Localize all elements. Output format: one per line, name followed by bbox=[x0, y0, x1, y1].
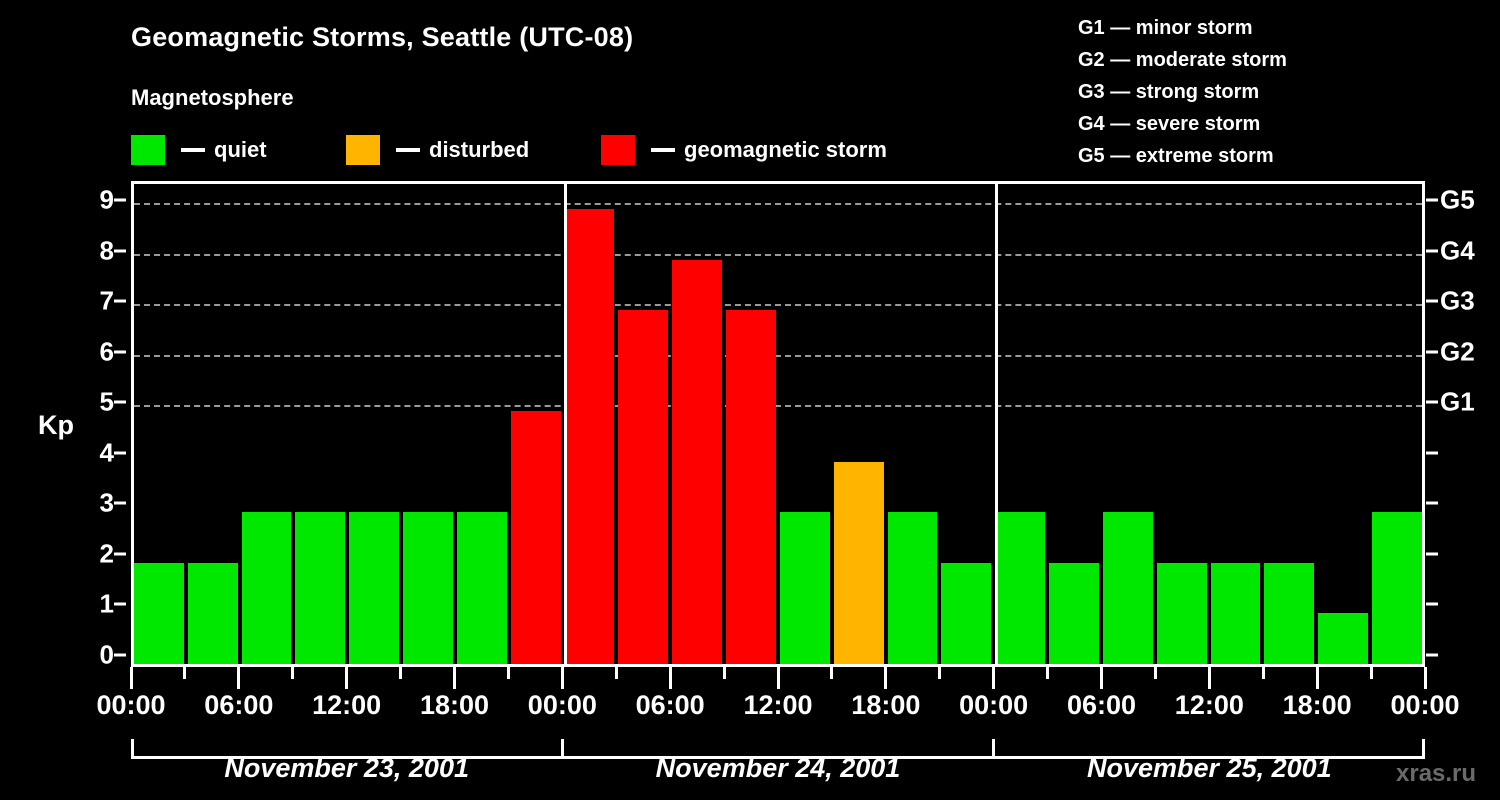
g-axis-tick-2 bbox=[1426, 552, 1438, 555]
bar[interactable] bbox=[1211, 563, 1261, 664]
day-labels: November 23, 2001November 24, 2001Novemb… bbox=[131, 753, 1425, 793]
bar[interactable] bbox=[1264, 563, 1314, 664]
g-axis-tick-1 bbox=[1426, 603, 1438, 606]
legend-item-quiet: quiet bbox=[131, 135, 267, 165]
g-tick-label-G4: G4 bbox=[1440, 235, 1475, 266]
legend-item-storm: geomagnetic storm bbox=[601, 135, 887, 165]
y-tick-label-0: 0 bbox=[100, 640, 114, 671]
bar[interactable] bbox=[295, 512, 345, 664]
x-tick-16 bbox=[992, 667, 995, 689]
y-tick-4 bbox=[114, 451, 126, 454]
gscale-legend: G1 — minor stormG2 — moderate stormG3 — … bbox=[1078, 12, 1287, 172]
legend-label-quiet: quiet bbox=[214, 137, 267, 163]
x-tick-label-6: 12:00 bbox=[743, 690, 812, 721]
bar[interactable] bbox=[1049, 563, 1099, 664]
x-tick-0 bbox=[130, 667, 133, 689]
y-tick-3 bbox=[114, 502, 126, 505]
g-axis-tick-3 bbox=[1426, 502, 1438, 505]
g-tick-label-G2: G2 bbox=[1440, 336, 1475, 367]
page-title: Geomagnetic Storms, Seattle (UTC-08) bbox=[131, 22, 633, 53]
y-tick-label-1: 1 bbox=[100, 589, 114, 620]
x-tick-22 bbox=[1316, 667, 1319, 689]
bar[interactable] bbox=[995, 512, 1045, 664]
bar[interactable] bbox=[1103, 512, 1153, 664]
y-tick-9 bbox=[114, 199, 126, 202]
g-axis: G1G2G3G4G5 bbox=[1440, 181, 1500, 667]
x-tick-label-3: 18:00 bbox=[420, 690, 489, 721]
x-tick-23 bbox=[1370, 667, 1373, 679]
day-label-3: November 25, 2001 bbox=[1087, 753, 1332, 784]
gscale-line-5: G5 — extreme storm bbox=[1078, 140, 1287, 172]
gscale-line-2: G2 — moderate storm bbox=[1078, 44, 1287, 76]
x-tick-2 bbox=[237, 667, 240, 689]
bar[interactable] bbox=[565, 209, 615, 664]
x-tick-24 bbox=[1424, 667, 1427, 689]
y-tick-6 bbox=[114, 350, 126, 353]
bar[interactable] bbox=[1318, 613, 1368, 664]
bar-series bbox=[134, 184, 1422, 664]
bar[interactable] bbox=[134, 563, 184, 664]
y-axis: 0123456789 bbox=[62, 181, 114, 667]
x-tick-label-8: 00:00 bbox=[959, 690, 1028, 721]
g-tick-label-G3: G3 bbox=[1440, 286, 1475, 317]
y-tick-label-7: 7 bbox=[100, 286, 114, 317]
bar[interactable] bbox=[672, 260, 722, 664]
x-tick-15 bbox=[938, 667, 941, 679]
bar[interactable] bbox=[349, 512, 399, 664]
x-tick-11 bbox=[723, 667, 726, 679]
x-tick-19 bbox=[1154, 667, 1157, 679]
x-tick-7 bbox=[507, 667, 510, 679]
g-tick-label-G1: G1 bbox=[1440, 387, 1475, 418]
watermark: xras.ru bbox=[1396, 760, 1476, 788]
g-axis-tick-8 bbox=[1426, 249, 1438, 252]
x-tick-14 bbox=[884, 667, 887, 689]
day-separator-1 bbox=[564, 184, 567, 664]
x-tick-3 bbox=[291, 667, 294, 679]
y-tick-label-3: 3 bbox=[100, 488, 114, 519]
y-tick-7 bbox=[114, 300, 126, 303]
x-tick-4 bbox=[345, 667, 348, 689]
g-axis-tick-7 bbox=[1426, 300, 1438, 303]
gscale-line-3: G3 — strong storm bbox=[1078, 76, 1287, 108]
y-tick-0 bbox=[114, 654, 126, 657]
x-tick-13 bbox=[830, 667, 833, 679]
g-axis-tick-4 bbox=[1426, 451, 1438, 454]
bar[interactable] bbox=[941, 563, 991, 664]
bar[interactable] bbox=[834, 462, 884, 664]
y-tick-5 bbox=[114, 401, 126, 404]
legend-dash-icon bbox=[651, 148, 675, 152]
y-tick-8 bbox=[114, 249, 126, 252]
legend-dash-icon bbox=[396, 148, 420, 152]
legend-swatch-storm bbox=[601, 135, 635, 165]
x-tick-label-4: 00:00 bbox=[528, 690, 597, 721]
y-tick-label-8: 8 bbox=[100, 235, 114, 266]
y-tick-label-5: 5 bbox=[100, 387, 114, 418]
bar[interactable] bbox=[1157, 563, 1207, 664]
gscale-line-4: G4 — severe storm bbox=[1078, 108, 1287, 140]
legend-swatch-disturbed bbox=[346, 135, 380, 165]
bar[interactable] bbox=[188, 563, 238, 664]
x-tick-label-10: 12:00 bbox=[1175, 690, 1244, 721]
legend-item-disturbed: disturbed bbox=[346, 135, 529, 165]
x-tick-21 bbox=[1262, 667, 1265, 679]
bar[interactable] bbox=[1372, 512, 1422, 664]
y-tick-label-6: 6 bbox=[100, 336, 114, 367]
x-tick-label-11: 18:00 bbox=[1283, 690, 1352, 721]
x-tick-20 bbox=[1208, 667, 1211, 689]
x-tick-1 bbox=[183, 667, 186, 679]
legend-label-disturbed: disturbed bbox=[429, 137, 529, 163]
day-label-1: November 23, 2001 bbox=[224, 753, 469, 784]
x-tick-9 bbox=[615, 667, 618, 679]
bar[interactable] bbox=[618, 310, 668, 664]
bar[interactable] bbox=[457, 512, 507, 664]
x-tick-10 bbox=[669, 667, 672, 689]
y-tick-label-2: 2 bbox=[100, 538, 114, 569]
y-tick-2 bbox=[114, 552, 126, 555]
x-tick-17 bbox=[1046, 667, 1049, 679]
g-tick-label-G5: G5 bbox=[1440, 185, 1475, 216]
x-tick-6 bbox=[453, 667, 456, 689]
y-tick-label-9: 9 bbox=[100, 185, 114, 216]
x-tick-label-9: 06:00 bbox=[1067, 690, 1136, 721]
chart-subtitle: Magnetosphere bbox=[131, 85, 294, 111]
gscale-line-1: G1 — minor storm bbox=[1078, 12, 1287, 44]
y-tick-1 bbox=[114, 603, 126, 606]
bar[interactable] bbox=[242, 512, 292, 664]
day-separator-2 bbox=[995, 184, 998, 664]
x-tick-5 bbox=[399, 667, 402, 679]
x-tick-18 bbox=[1100, 667, 1103, 689]
day-label-2: November 24, 2001 bbox=[656, 753, 901, 784]
g-axis-tick-5 bbox=[1426, 401, 1438, 404]
x-tick-8 bbox=[561, 667, 564, 689]
x-axis-ticks bbox=[131, 667, 1425, 689]
x-tick-label-0: 00:00 bbox=[96, 690, 165, 721]
g-axis-tick-6 bbox=[1426, 350, 1438, 353]
legend-swatch-quiet bbox=[131, 135, 165, 165]
x-tick-label-5: 06:00 bbox=[636, 690, 705, 721]
legend-dash-icon bbox=[181, 148, 205, 152]
y-tick-label-4: 4 bbox=[100, 437, 114, 468]
bar[interactable] bbox=[403, 512, 453, 664]
bar[interactable] bbox=[780, 512, 830, 664]
g-axis-tick-0 bbox=[1426, 654, 1438, 657]
g-axis-tick-9 bbox=[1426, 199, 1438, 202]
bar[interactable] bbox=[888, 512, 938, 664]
x-tick-12 bbox=[777, 667, 780, 689]
x-tick-label-12: 00:00 bbox=[1390, 690, 1459, 721]
x-tick-label-7: 18:00 bbox=[851, 690, 920, 721]
x-axis-labels: 00:0006:0012:0018:0000:0006:0012:0018:00… bbox=[0, 690, 1500, 724]
x-tick-label-1: 06:00 bbox=[204, 690, 273, 721]
plot-area bbox=[131, 181, 1425, 667]
chart-canvas: Geomagnetic Storms, Seattle (UTC-08) Mag… bbox=[0, 0, 1500, 800]
legend-label-storm: geomagnetic storm bbox=[684, 137, 887, 163]
bar[interactable] bbox=[726, 310, 776, 664]
x-tick-label-2: 12:00 bbox=[312, 690, 381, 721]
bar[interactable] bbox=[511, 411, 561, 664]
